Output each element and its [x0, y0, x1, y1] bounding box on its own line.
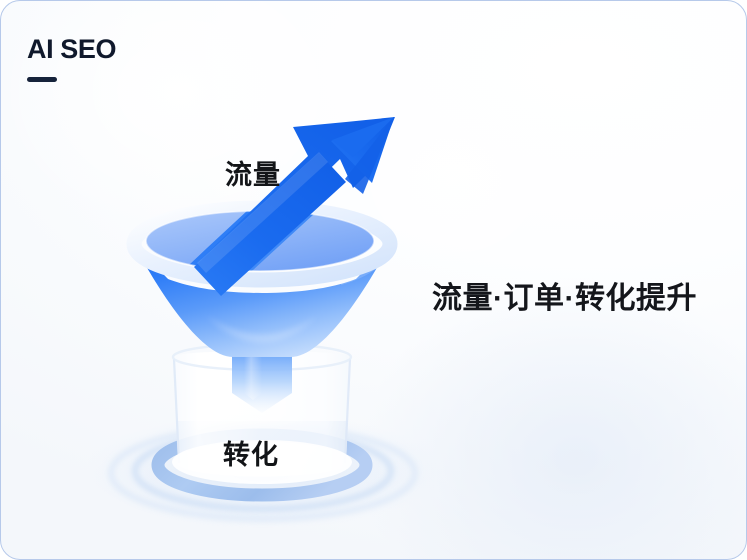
title-underline-rule [27, 77, 57, 82]
headline-text: 流量·订单·转化提升 [432, 273, 697, 317]
funnel-label-traffic: 流量 [225, 153, 281, 192]
funnel-label-conversion: 转化 [223, 433, 279, 472]
slide-canvas: AI SEO 流量 转化 流量·订单·转化提升 [0, 0, 747, 560]
title-block: AI SEO [27, 36, 116, 82]
page-title: AI SEO [27, 36, 116, 63]
